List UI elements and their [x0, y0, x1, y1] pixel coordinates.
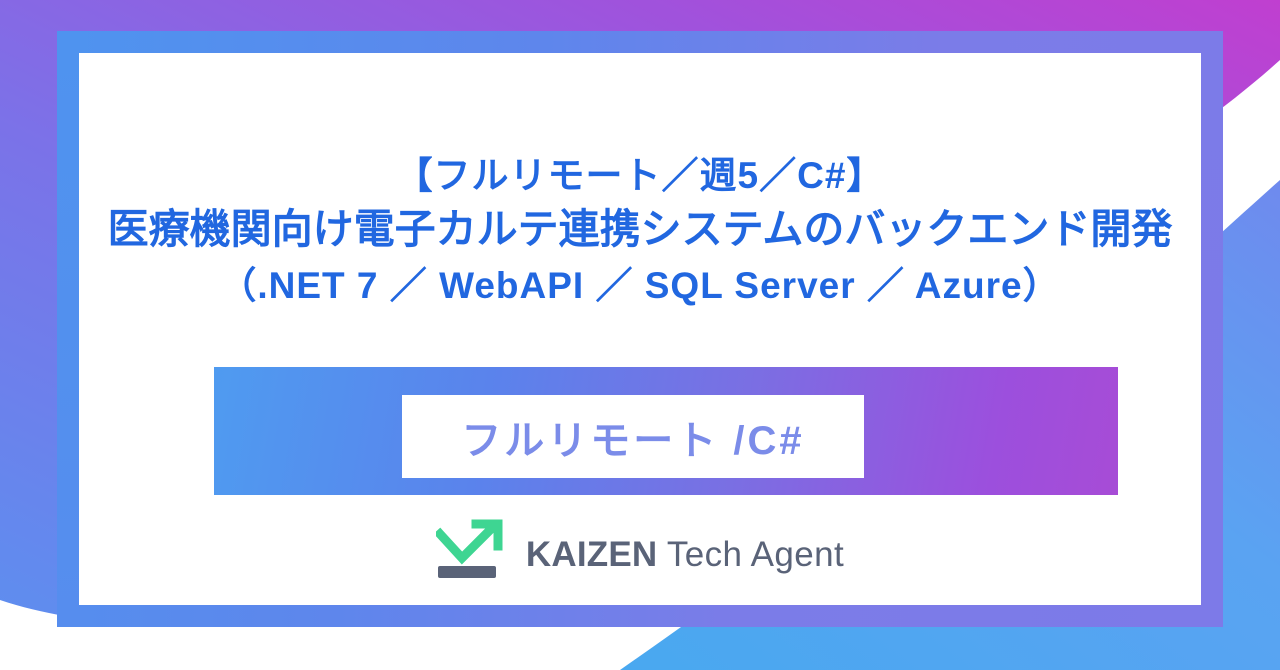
logo-lockup: KAIZEN Tech Agent [0, 518, 1280, 582]
headline-line-3: （.NET 7 ／ WebAPI ／ SQL Server ／ Azure） [0, 262, 1280, 309]
logo-brand-name: KAIZEN [526, 535, 657, 574]
badge-chip-label: フルリモート /C# [461, 408, 804, 466]
headline-line-1: 【フルリモート／週5／C#】 [0, 152, 1280, 199]
logo-brand-suffix: Tech Agent [657, 535, 844, 574]
headline-block: 【フルリモート／週5／C#】 医療機関向け電子カルテ連携システムのバックエンド開… [0, 152, 1280, 309]
banner-canvas: 【フルリモート／週5／C#】 医療機関向け電子カルテ連携システムのバックエンド開… [0, 0, 1280, 670]
logo-wordmark: KAIZEN Tech Agent [526, 529, 844, 572]
growth-arrow-check-icon [436, 518, 508, 582]
badge-chip: フルリモート /C# [402, 395, 864, 478]
headline-line-2: 医療機関向け電子カルテ連携システムのバックエンド開発 [0, 203, 1280, 255]
